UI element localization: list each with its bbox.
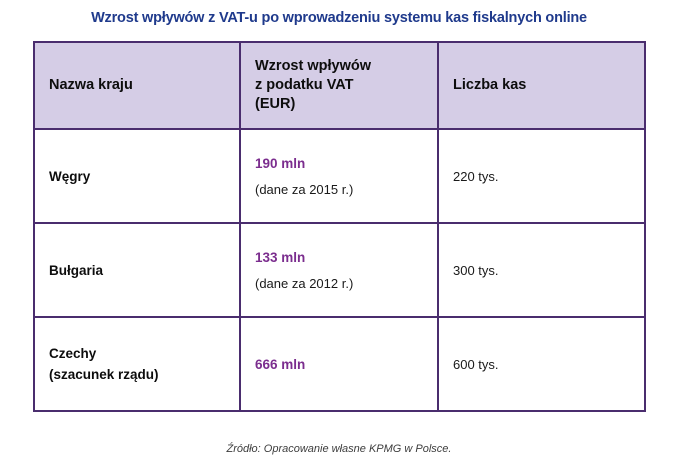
table-row: Czechy (szacunek rządu) 666 mln 600 tys. bbox=[34, 317, 645, 411]
column-header-devices: Liczba kas bbox=[438, 42, 645, 129]
column-header-country: Nazwa kraju bbox=[34, 42, 240, 129]
vat-table: Nazwa kraju Wzrost wpływów z podatku VAT… bbox=[33, 41, 646, 412]
column-header-revenue-line3: (EUR) bbox=[255, 95, 437, 114]
table-row: Węgry 190 mln (dane za 2015 r.) 220 tys. bbox=[34, 129, 645, 223]
cell-country: Czechy (szacunek rządu) bbox=[34, 317, 240, 411]
table-body: Węgry 190 mln (dane za 2015 r.) 220 tys.… bbox=[34, 129, 645, 411]
revenue-amount: 190 mln bbox=[255, 153, 437, 174]
devices-count: 600 tys. bbox=[453, 354, 644, 375]
cell-country: Węgry bbox=[34, 129, 240, 223]
revenue-amount: 133 mln bbox=[255, 247, 437, 268]
revenue-note: (dane za 2012 r.) bbox=[255, 273, 437, 294]
column-header-country-label: Nazwa kraju bbox=[49, 76, 239, 95]
cell-revenue: 666 mln bbox=[240, 317, 438, 411]
revenue-amount: 666 mln bbox=[255, 354, 437, 375]
country-name: Węgry bbox=[49, 166, 239, 187]
cell-country: Bułgaria bbox=[34, 223, 240, 317]
devices-count: 300 tys. bbox=[453, 260, 644, 281]
cell-revenue: 190 mln (dane za 2015 r.) bbox=[240, 129, 438, 223]
cell-devices: 300 tys. bbox=[438, 223, 645, 317]
cell-revenue: 133 mln (dane za 2012 r.) bbox=[240, 223, 438, 317]
country-name: Bułgaria bbox=[49, 260, 239, 281]
cell-devices: 220 tys. bbox=[438, 129, 645, 223]
table-header-row: Nazwa kraju Wzrost wpływów z podatku VAT… bbox=[34, 42, 645, 129]
devices-count: 220 tys. bbox=[453, 166, 644, 187]
revenue-note: (dane za 2015 r.) bbox=[255, 179, 437, 200]
column-header-revenue-line2: z podatku VAT bbox=[255, 76, 437, 95]
country-note: (szacunek rządu) bbox=[49, 364, 239, 385]
table-row: Bułgaria 133 mln (dane za 2012 r.) 300 t… bbox=[34, 223, 645, 317]
cell-devices: 600 tys. bbox=[438, 317, 645, 411]
source-caption: Źródło: Opracowanie własne KPMG w Polsce… bbox=[0, 442, 678, 457]
column-header-devices-label: Liczba kas bbox=[453, 76, 644, 95]
country-name: Czechy bbox=[49, 343, 239, 364]
page-title: Wzrost wpływów z VAT-u po wprowadzeniu s… bbox=[0, 8, 678, 28]
column-header-revenue-line1: Wzrost wpływów bbox=[255, 57, 437, 76]
table-header: Nazwa kraju Wzrost wpływów z podatku VAT… bbox=[34, 42, 645, 129]
infographic-page: Wzrost wpływów z VAT-u po wprowadzeniu s… bbox=[0, 0, 678, 472]
column-header-revenue: Wzrost wpływów z podatku VAT (EUR) bbox=[240, 42, 438, 129]
